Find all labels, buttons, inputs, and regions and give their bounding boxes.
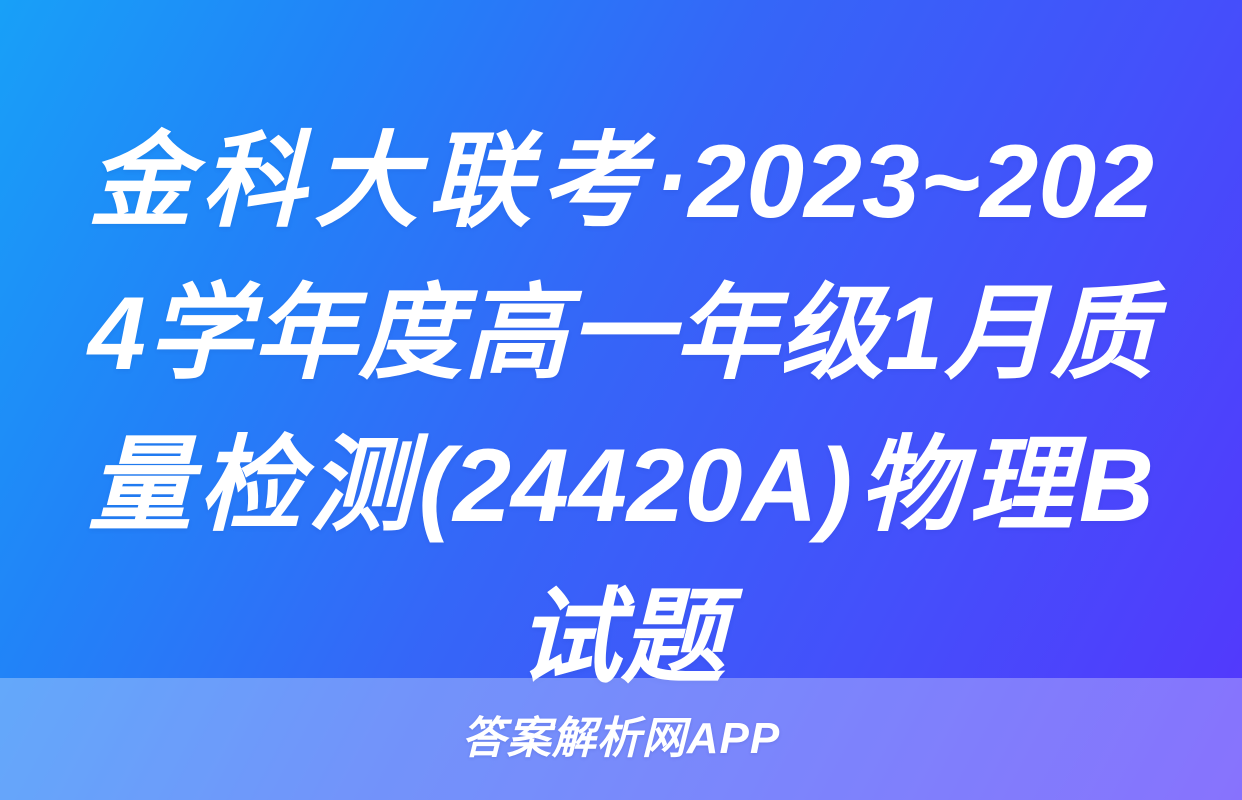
poster-title-block: 金科大联考·2023~2024学年度高一年级1月质量检测(24420A)物理B试…: [88, 106, 1154, 714]
watermark-band: 答案解析网APP: [0, 678, 1242, 800]
exam-cover-poster: 金科大联考·2023~2024学年度高一年级1月质量检测(24420A)物理B试…: [0, 0, 1242, 800]
page-title: 金科大联考·2023~2024学年度高一年级1月质量检测(24420A)物理B试…: [88, 106, 1154, 714]
watermark-label: 答案解析网APP: [462, 717, 780, 761]
